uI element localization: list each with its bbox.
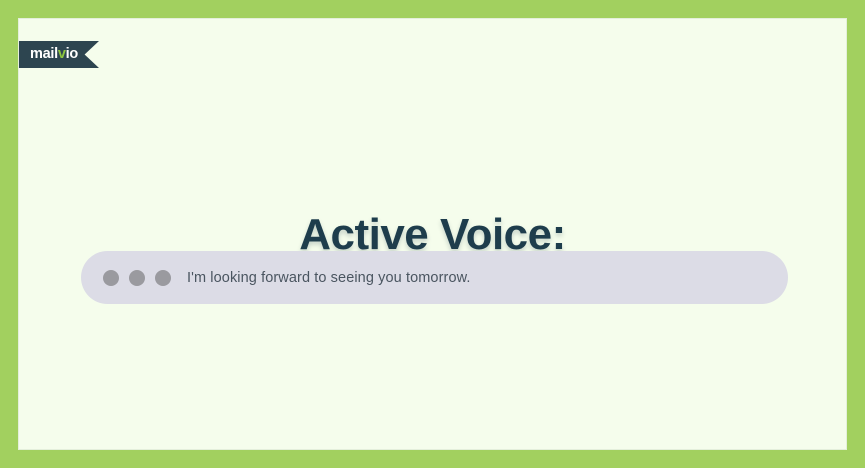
typing-dot-icon: [129, 270, 145, 286]
logo-text-before-accent: mail: [30, 46, 58, 62]
typing-indicator: [103, 270, 171, 286]
slide-card: mailvio Active Voice: I'm looking forwar…: [18, 18, 847, 450]
message-bubble: I'm looking forward to seeing you tomorr…: [81, 251, 788, 304]
logo-accent-letter: v: [58, 46, 66, 62]
mailvio-logo-ribbon[interactable]: mailvio: [19, 41, 99, 68]
logo-wordmark: mailvio: [30, 47, 78, 62]
logo-text-after-accent: io: [66, 46, 78, 62]
slide-frame: mailvio Active Voice: I'm looking forwar…: [0, 0, 865, 468]
typing-dot-icon: [155, 270, 171, 286]
typing-dot-icon: [103, 270, 119, 286]
message-text: I'm looking forward to seeing you tomorr…: [187, 270, 471, 286]
